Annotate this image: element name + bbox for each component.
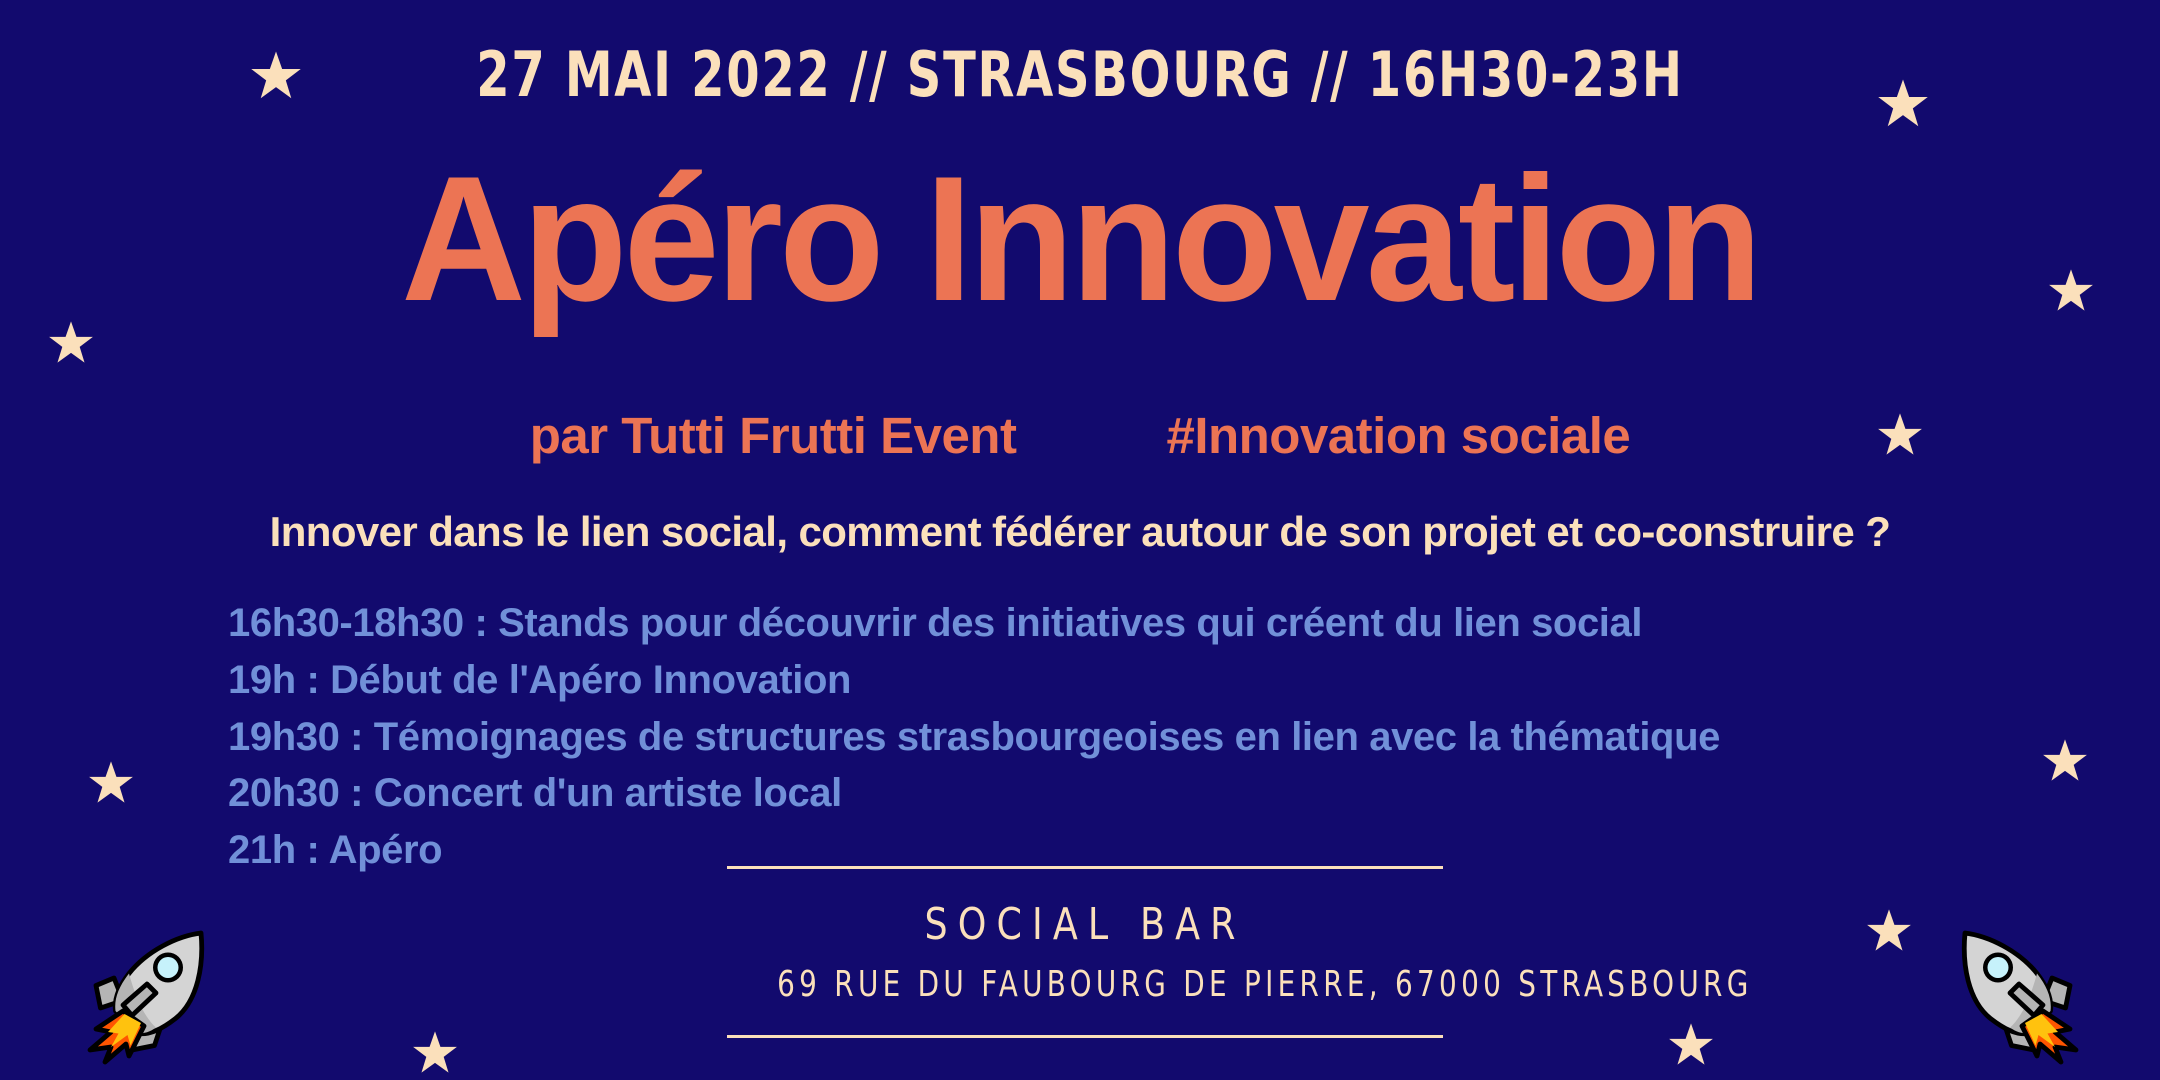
schedule-list: 16h30-18h30 : Stands pour découvrir des … (228, 595, 1720, 879)
star-lower-left-icon (88, 760, 134, 806)
subtitle-row: par Tutti Frutti Event #Innovation socia… (0, 406, 2160, 465)
organizer-label: par Tutti Frutti Event (530, 406, 1017, 465)
event-poster: 27 MAI 2022 // STRASBOURG // 16H30-23H A… (0, 0, 2160, 1080)
hashtag-label: #Innovation sociale (1166, 406, 1630, 465)
star-bottom-left-icon (412, 1030, 458, 1076)
venue-block: SOCIAL BAR 69 RUE DU FAUBOURG DE PIERRE,… (727, 866, 1443, 1038)
venue-address: 69 RUE DU FAUBOURG DE PIERRE, 67000 STRA… (777, 964, 1393, 1035)
schedule-item: 16h30-18h30 : Stands pour découvrir des … (228, 595, 1720, 652)
event-dateline: 27 MAI 2022 // STRASBOURG // 16H30-23H (151, 38, 2009, 111)
star-bottom-right-a-icon (1866, 908, 1912, 954)
schedule-item: 19h30 : Témoignages de structures strasb… (228, 709, 1720, 766)
venue-name: SOCIAL BAR (756, 869, 1415, 964)
rocket-bottom-left-icon (78, 918, 228, 1068)
page-title: Apéro Innovation (32, 150, 2127, 328)
schedule-item: 20h30 : Concert d'un artiste local (228, 765, 1720, 822)
event-tagline: Innover dans le lien social, comment féd… (0, 508, 2160, 556)
venue-rule-bottom (727, 1035, 1443, 1038)
star-lower-right-b-icon (2042, 738, 2088, 784)
schedule-item: 19h : Début de l'Apéro Innovation (228, 652, 1720, 709)
rocket-bottom-right-icon (1938, 918, 2088, 1068)
star-bottom-right-b-icon (1668, 1022, 1714, 1068)
